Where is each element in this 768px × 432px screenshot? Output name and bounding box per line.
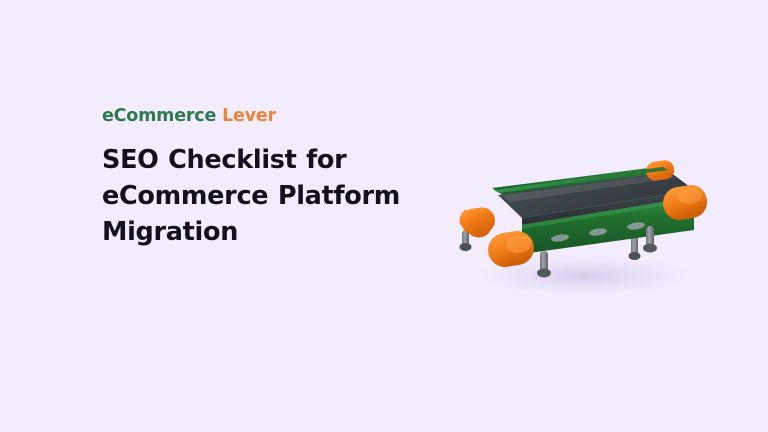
brand-logo-secondary: Lever [222, 106, 276, 126]
conveyor-belt-illustration [432, 148, 722, 304]
hero-text-block: eCommerce Lever SEO Checklist for eComme… [102, 108, 432, 250]
brand-logo[interactable]: eCommerce Lever [102, 108, 432, 126]
brand-logo-primary: eCommerce [102, 106, 216, 126]
article-hero-card: eCommerce Lever SEO Checklist for eComme… [0, 0, 768, 432]
page-title: SEO Checklist for eCommerce Platform Mig… [102, 142, 432, 251]
conveyor-leg-back-right [629, 236, 641, 260]
